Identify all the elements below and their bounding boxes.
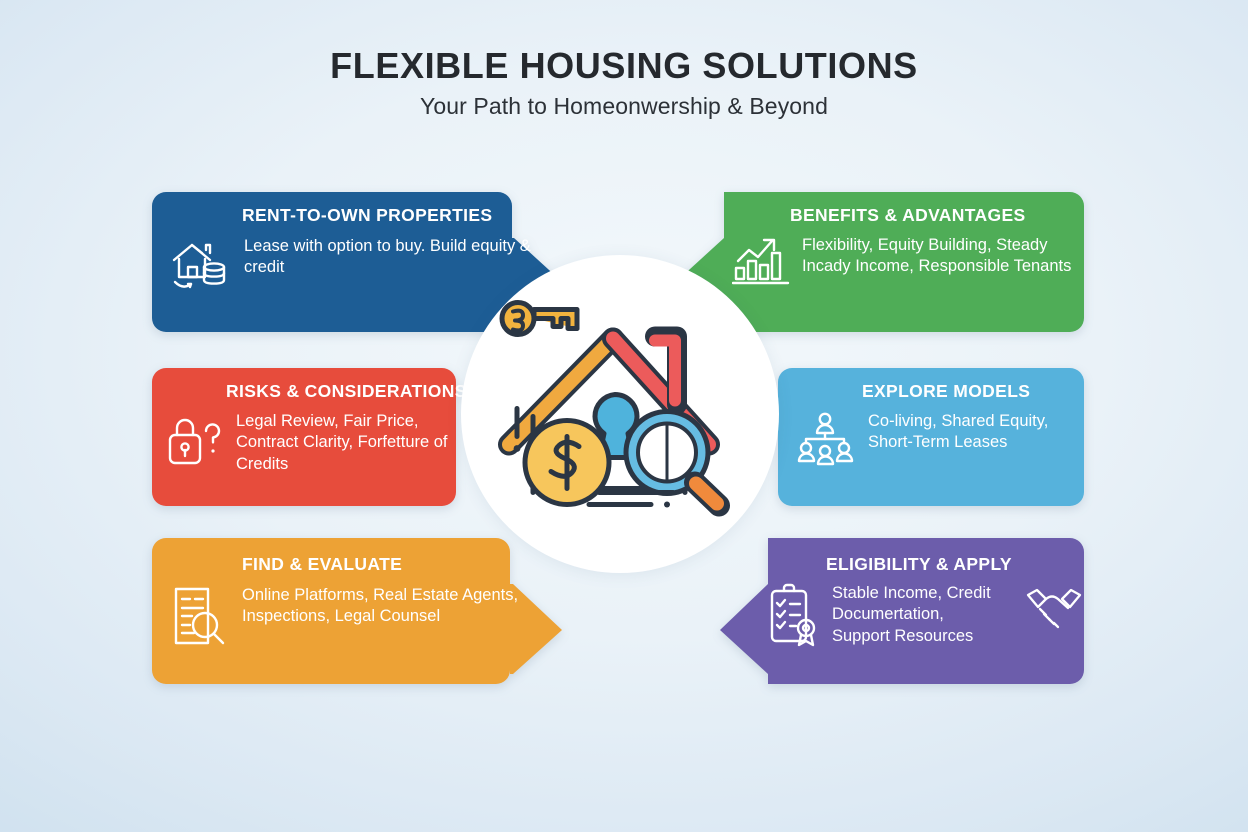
card-body: Co-living, Shared Equity, Short-Term Lea… <box>868 411 1084 454</box>
card-body: Online Platforms, Real Estate Agents, In… <box>242 585 562 628</box>
page-title: FLEXIBLE HOUSING SOLUTIONS <box>0 46 1248 86</box>
key-icon <box>502 303 577 335</box>
card-body: Legal Review, Fair Price, Contract Clari… <box>236 411 456 475</box>
card-explore-models[interactable]: EXPLORE MODELS <box>778 368 1084 506</box>
card-title: RISKS & CONSIDERATIONS <box>226 381 456 402</box>
dollar-coin-icon <box>525 421 609 505</box>
card-eligibility-apply[interactable]: ELIGIBILITY & APPLY <box>718 538 1084 684</box>
card-title: BENEFITS & ADVANTAGES <box>790 205 1084 226</box>
handshake-icon <box>1024 585 1084 633</box>
house-key-magnifier-illustration <box>495 297 745 532</box>
house-with-coins-icon <box>170 236 232 298</box>
card-risks-considerations[interactable]: RISKS & CONSIDERATIONS Legal Review, Fai… <box>152 368 456 506</box>
card-find-evaluate[interactable]: FIND & EVALUATE Online Platf <box>152 538 562 684</box>
card-title: FIND & EVALUATE <box>242 554 562 575</box>
card-title: RENT-TO-OWN PROPERTIES <box>242 205 560 226</box>
card-body: Flexibility, Equity Building, Steady Inc… <box>802 235 1084 278</box>
header: FLEXIBLE HOUSING SOLUTIONS Your Path to … <box>0 46 1248 120</box>
card-title: ELIGIBILITY & APPLY <box>826 554 1084 575</box>
card-body: Lease with option to buy. Build equity &… <box>244 236 560 279</box>
document-magnifier-icon <box>170 585 230 651</box>
growth-bar-chart-icon <box>732 235 790 289</box>
card-title: EXPLORE MODELS <box>862 381 1084 402</box>
card-body: Stable Income, Credit Documertation, Sup… <box>832 583 1000 647</box>
page-subtitle: Your Path to Homeonwership & Beyond <box>0 93 1248 120</box>
clipboard-checklist-badge-icon <box>766 583 822 647</box>
people-network-icon <box>794 411 856 467</box>
center-hub-circle <box>461 255 779 573</box>
padlock-question-icon <box>166 411 224 471</box>
